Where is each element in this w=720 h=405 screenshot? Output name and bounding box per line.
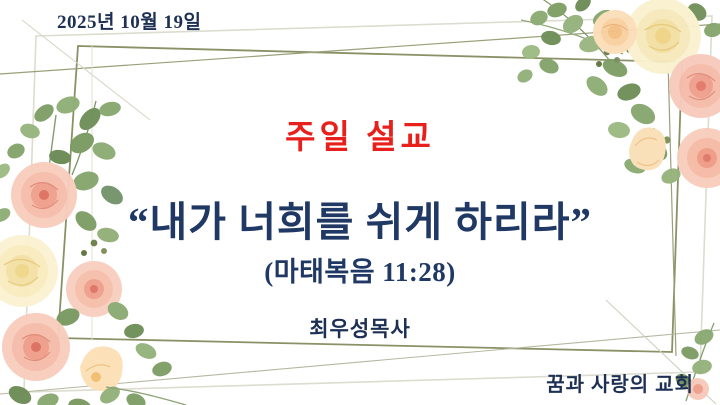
slide-date: 2025년 10월 19일 (57, 7, 201, 34)
verse-reference: (마태복음 11:28) (0, 250, 720, 289)
church-name: 꿈과 사랑의 교회 (546, 368, 694, 397)
sermon-label: 주일 설교 (0, 110, 720, 158)
verse-quote-title: “내가 너희를 쉬게 하리라” (0, 188, 720, 248)
sermon-slide: 2025년 10월 19일 주일 설교 “내가 너희를 쉬게 하리라” (마태복… (0, 0, 720, 405)
floral-cluster-top-right-icon (511, 0, 720, 190)
preacher-name: 최우성목사 (0, 313, 720, 343)
frame-accent-line-topleft (22, 20, 150, 120)
